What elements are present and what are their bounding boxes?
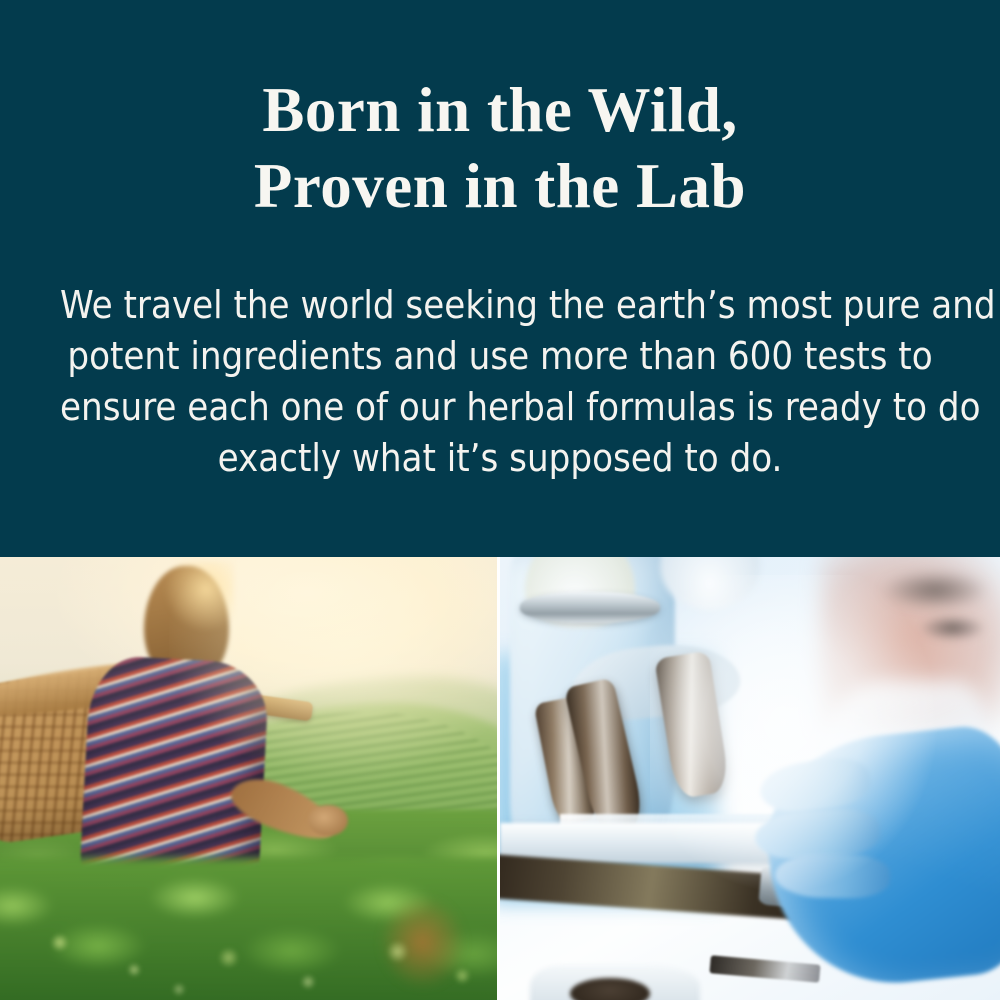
tea-harvest-photo — [0, 557, 497, 1000]
gloved-finger-3 — [775, 853, 891, 899]
laboratory-microscope-photo — [500, 557, 1000, 1000]
text-panel: Born in the Wild, Proven in the Lab We t… — [0, 0, 1000, 557]
subcopy-line-3: ensure each one of our herbal formulas i… — [60, 382, 940, 433]
harvester-hair-glow — [164, 561, 234, 632]
microscope-collar-ring — [520, 592, 660, 623]
laboratory-photo-inner — [500, 557, 1000, 1000]
tea-harvest-photo-inner — [0, 557, 497, 1000]
scientist-brow — [880, 570, 990, 610]
harvester-hand — [308, 805, 348, 836]
subcopy-line-4: exactly what it’s supposed to do. — [60, 433, 940, 484]
scientist-eye — [920, 615, 985, 642]
foreground-bokeh — [0, 849, 497, 1000]
subcopy-paragraph: We travel the world seeking the earth’s … — [60, 280, 940, 484]
marketing-banner: Born in the Wild, Proven in the Lab We t… — [0, 0, 1000, 1000]
photo-strip — [0, 557, 1000, 1000]
microscope-stage — [500, 823, 790, 863]
subcopy-line-1: We travel the world seeking the earth’s … — [60, 280, 940, 331]
headline-line-2: Proven in the Lab — [70, 148, 930, 224]
headline-line-1: Born in the Wild, — [70, 72, 930, 148]
page-title: Born in the Wild, Proven in the Lab — [70, 72, 930, 224]
subcopy-line-2: potent ingredients and use more than 600… — [60, 331, 940, 382]
